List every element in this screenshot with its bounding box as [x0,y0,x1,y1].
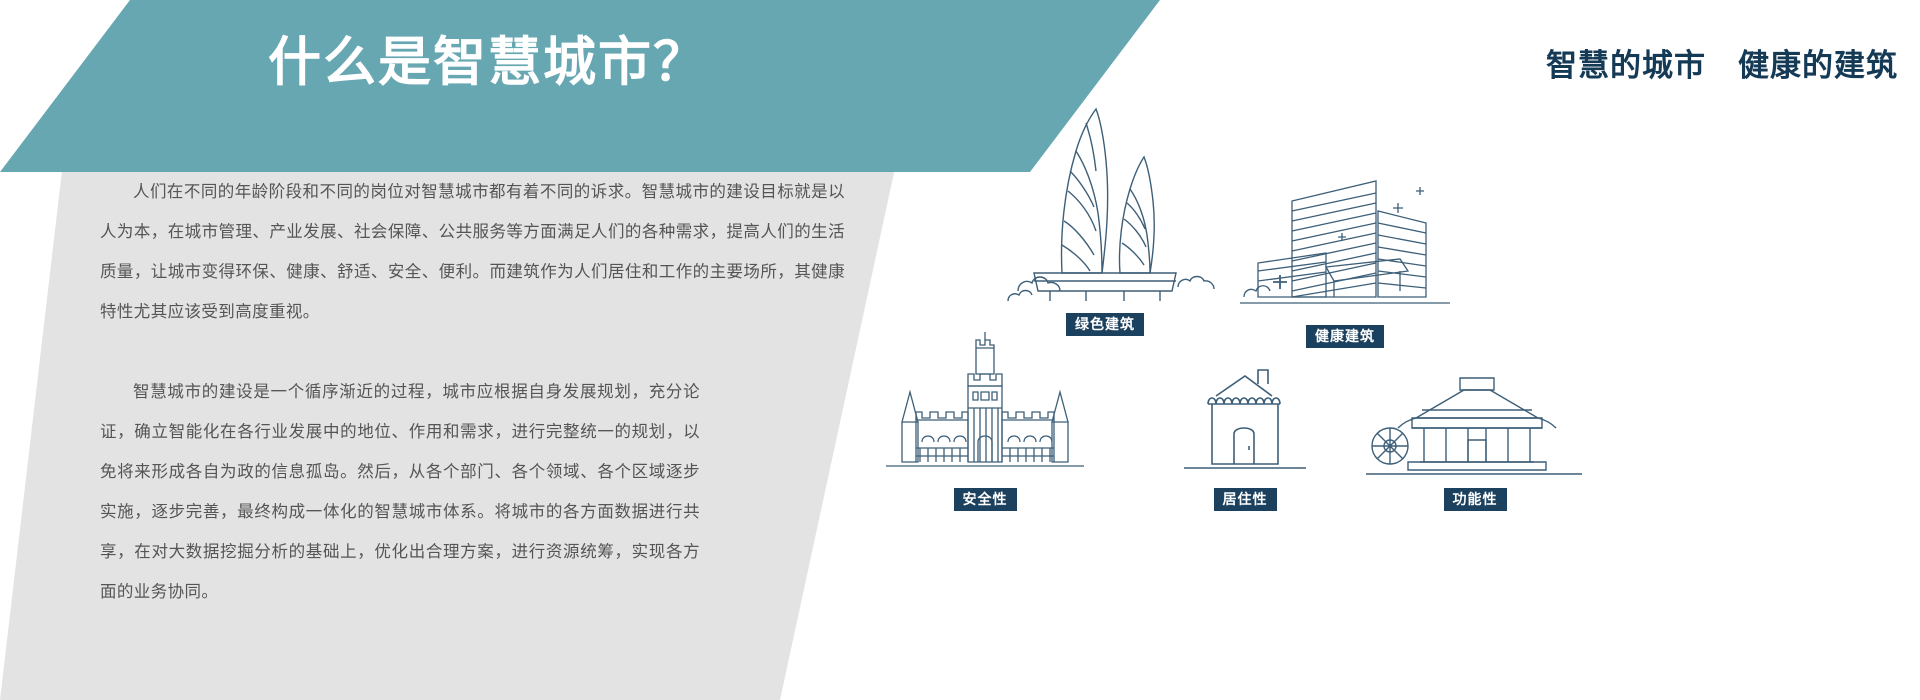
paragraph-2: 智慧城市的建设是一个循序渐近的过程，城市应根据自身发展规划，充分论证，确立智能化… [100,372,700,612]
castle-icon [840,330,1130,480]
illustration-label: 居住性 [1214,488,1277,511]
illustration-item-green-building: 绿色建筑 [990,95,1220,336]
paragraph-1: 人们在不同的年龄阶段和不同的岗位对智慧城市都有着不同的诉求。智慧城市的建设目标就… [100,172,845,332]
illustration-label: 功能性 [1444,488,1507,511]
illustration-item-healthy-building: 健康建筑 [1230,167,1460,348]
brand-tagline: 智慧的城市 健康的建筑 [1546,40,1898,85]
illustration-group: 绿色建筑 健康建筑 [830,95,1920,700]
illustration-item-livability: 居住性 [1150,360,1340,511]
hospital-building-icon [1230,167,1460,317]
body-copy: 人们在不同的年龄阶段和不同的岗位对智慧城市都有着不同的诉求。智慧城市的建设目标就… [100,172,845,612]
illustration-item-safety: 安全性 [840,330,1130,511]
illustration-label: 安全性 [954,488,1017,511]
pavilion-icon [1360,370,1590,480]
page-title: 什么是智慧城市？ [268,34,708,92]
twisted-towers-icon [990,95,1220,305]
illustration-item-functionality: 功能性 [1360,370,1590,511]
house-shop-icon [1150,360,1340,480]
illustration-label: 健康建筑 [1306,325,1384,348]
